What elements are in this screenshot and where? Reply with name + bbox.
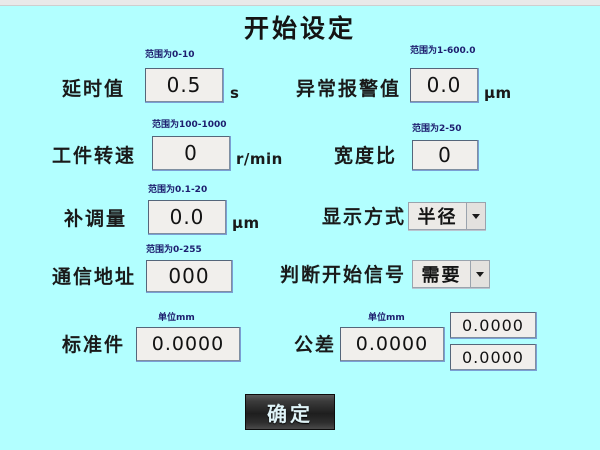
display-mode-value: 半径 bbox=[409, 203, 466, 229]
standard-part-input[interactable]: 0.0000 bbox=[136, 327, 240, 361]
spindle-speed-unit: r/min bbox=[236, 150, 283, 168]
width-ratio-label: 宽度比 bbox=[334, 145, 397, 167]
width-ratio-hint: 范围为2-50 bbox=[412, 124, 462, 134]
standard-part-hint: 单位mm bbox=[158, 313, 195, 323]
alarm-hint: 范围为1-600.0 bbox=[410, 46, 475, 56]
tolerance-lower-input[interactable]: 0.0000 bbox=[450, 344, 536, 370]
confirm-button[interactable]: 确定 bbox=[245, 394, 335, 430]
compensation-input[interactable]: 0.0 bbox=[148, 200, 226, 234]
start-signal-select[interactable]: 需要 bbox=[412, 260, 490, 288]
compensation-label: 补调量 bbox=[64, 208, 127, 230]
alarm-label: 异常报警值 bbox=[296, 78, 401, 100]
compensation-unit: μm bbox=[232, 214, 260, 232]
standard-part-label: 标准件 bbox=[62, 334, 125, 356]
display-mode-select[interactable]: 半径 bbox=[408, 202, 486, 230]
start-signal-label: 判断开始信号 bbox=[280, 264, 406, 286]
tolerance-label: 公差 bbox=[294, 334, 336, 356]
alarm-input[interactable]: 0.0 bbox=[410, 68, 478, 102]
alarm-unit: μm bbox=[484, 84, 512, 102]
display-mode-label: 显示方式 bbox=[322, 206, 406, 228]
chevron-down-icon[interactable] bbox=[466, 203, 485, 229]
delay-hint: 范围为0-10 bbox=[145, 50, 195, 60]
compensation-hint: 范围为0.1-20 bbox=[148, 185, 207, 195]
delay-unit: s bbox=[230, 84, 239, 102]
spindle-speed-hint: 范围为100-1000 bbox=[152, 120, 227, 130]
spindle-speed-label: 工件转速 bbox=[52, 145, 136, 167]
tolerance-hint: 单位mm bbox=[368, 313, 405, 323]
comm-address-label: 通信地址 bbox=[52, 266, 136, 288]
comm-address-input[interactable]: 000 bbox=[146, 260, 232, 292]
comm-address-hint: 范围为0-255 bbox=[146, 245, 202, 255]
width-ratio-input[interactable]: 0 bbox=[412, 140, 478, 170]
start-signal-value: 需要 bbox=[413, 261, 470, 287]
tolerance-upper-input[interactable]: 0.0000 bbox=[450, 312, 536, 338]
delay-input[interactable]: 0.5 bbox=[145, 68, 223, 102]
chevron-down-icon-2[interactable] bbox=[470, 261, 489, 287]
tolerance-input[interactable]: 0.0000 bbox=[340, 327, 444, 361]
delay-label: 延时值 bbox=[62, 78, 125, 100]
page-title: 开始设定 bbox=[0, 9, 600, 45]
settings-screen: 开始设定 延时值 范围为0-10 0.5 s 异常报警值 范围为1-600.0 … bbox=[0, 0, 600, 450]
window-top-strip bbox=[0, 0, 600, 6]
spindle-speed-input[interactable]: 0 bbox=[152, 136, 230, 170]
